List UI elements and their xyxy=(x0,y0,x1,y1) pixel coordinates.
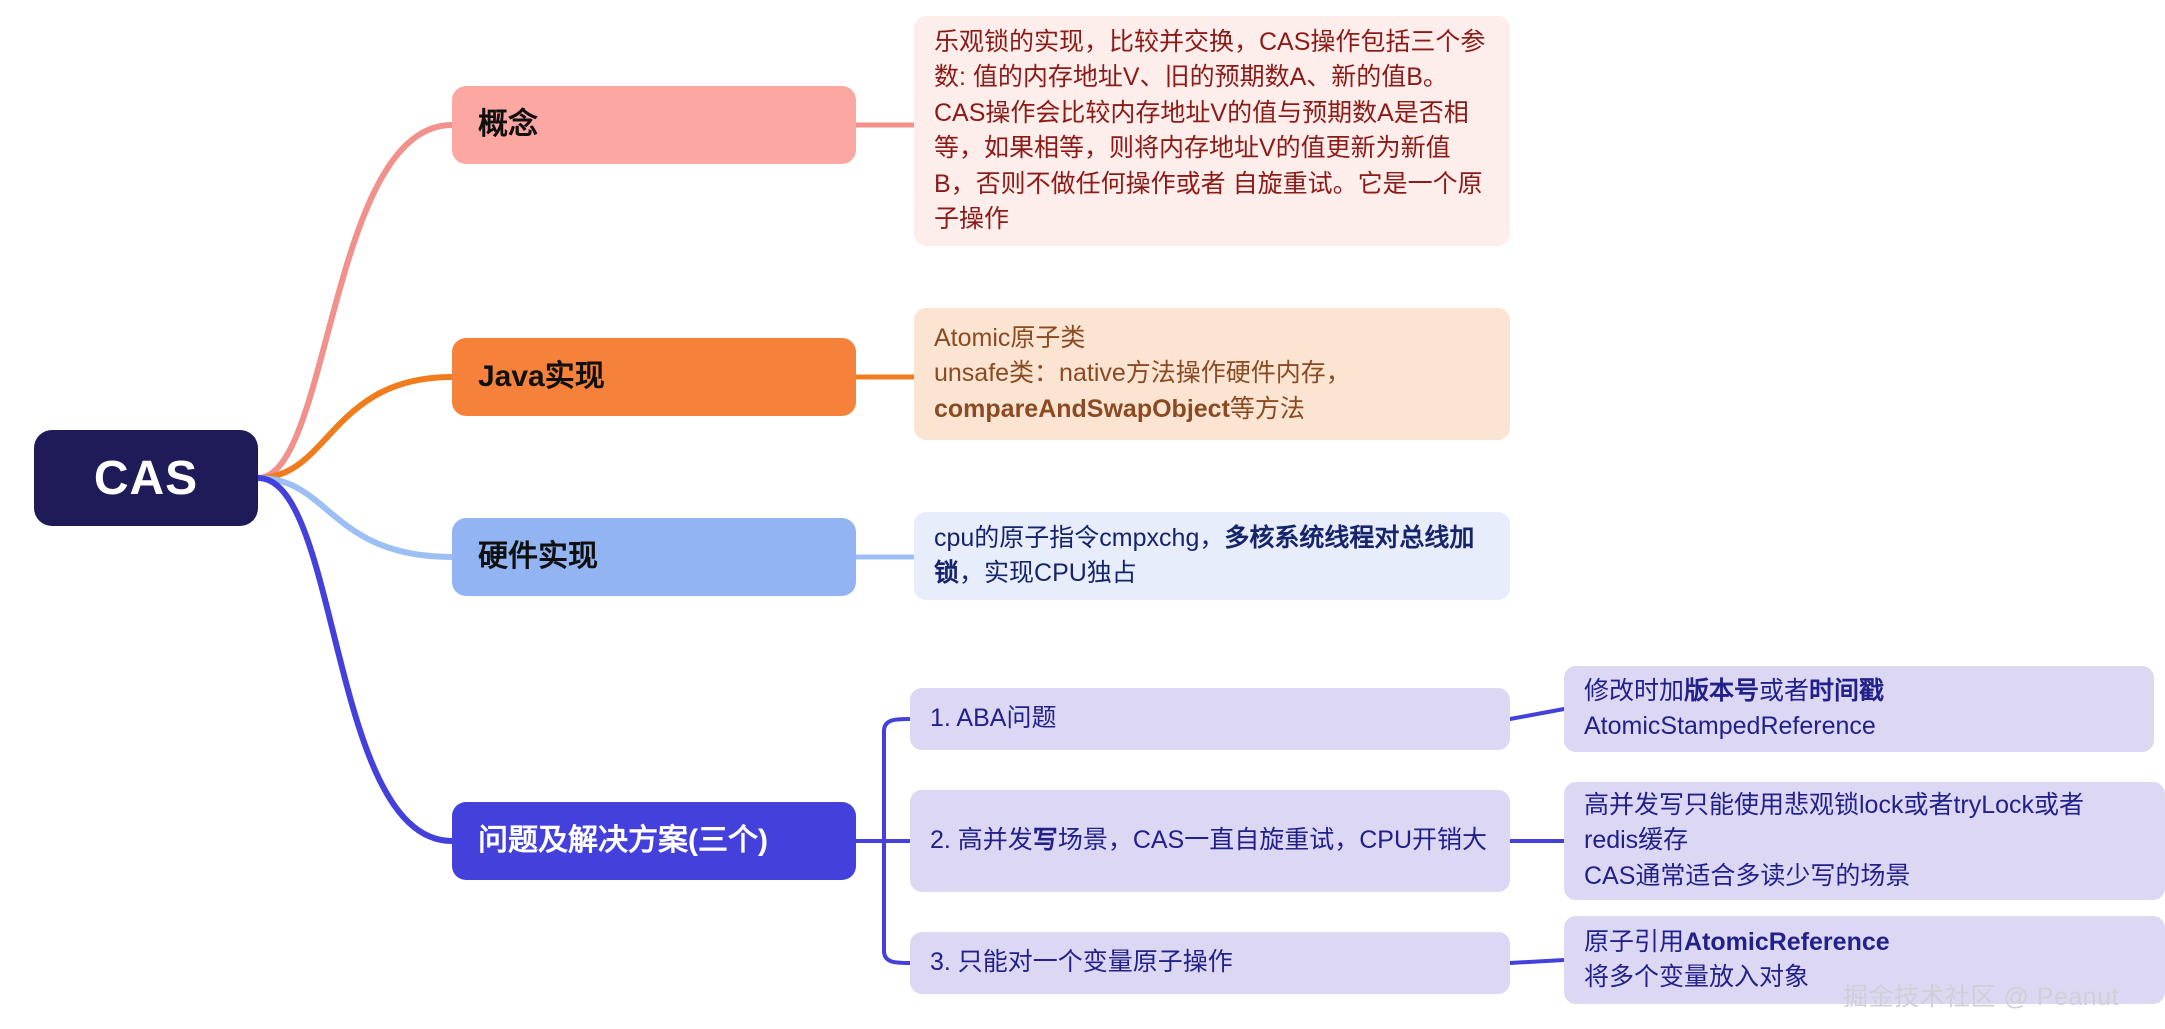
sub-2-post: 场景，CAS一直自旋重试，CPU开销大 xyxy=(1058,826,1487,854)
topic-label-hardware: 硬件实现 xyxy=(478,538,830,576)
answer-3-l2: 将多个变量放入对象 xyxy=(1584,963,1809,991)
sub-2-bold: 写 xyxy=(1033,826,1058,854)
topic-node-problems[interactable]: 问题及解决方案(三个) xyxy=(452,802,856,880)
answer-1-l1-bold2: 时间戳 xyxy=(1809,677,1884,705)
topic-node-java[interactable]: Java实现 xyxy=(452,338,856,416)
answer-3-l1-bold: AtomicReference xyxy=(1684,928,1890,956)
detail-box-hardware[interactable]: cpu的原子指令cmpxchg，多核系统线程对总线加锁，实现CPU独占 xyxy=(914,512,1510,600)
mindmap-canvas: CAS 概念 乐观锁的实现，比较并交换，CAS操作包括三个参数: 值的内存地址V… xyxy=(0,0,2165,1029)
link-root-java xyxy=(258,377,452,478)
answer-2-l3: CAS通常适合多读少写的场景 xyxy=(1584,862,1910,890)
detail-text-java: Atomic原子类 unsafe类：native方法操作硬件内存， compar… xyxy=(934,321,1490,428)
link-root-problems xyxy=(258,478,452,841)
link-root-concept xyxy=(258,125,452,478)
detail-hw-pre: cpu的原子指令cmpxchg， xyxy=(934,524,1224,552)
answer-1-l1-pre: 修改时加 xyxy=(1584,677,1684,705)
answer-box-problem-2[interactable]: 高并发写只能使用悲观锁lock或者tryLock或者redis缓存CAS通常适合… xyxy=(1564,782,2165,900)
link-root-hardware xyxy=(258,478,452,557)
answer-2-l1: 高并发写只能使用悲观锁lock或者tryLock或者 xyxy=(1584,791,2084,819)
topic-node-hardware[interactable]: 硬件实现 xyxy=(452,518,856,596)
detail-text-hardware: cpu的原子指令cmpxchg，多核系统线程对总线加锁，实现CPU独占 xyxy=(934,521,1490,592)
watermark: 掘金技术社区 @ Peanut xyxy=(1843,977,2119,1013)
answer-text-problem-2: 高并发写只能使用悲观锁lock或者tryLock或者redis缓存CAS通常适合… xyxy=(1584,788,2145,895)
sub-label-problem-2: 2. 高并发写场景，CAS一直自旋重试，CPU开销大 xyxy=(930,823,1490,859)
detail-java-line-3-post: 等方法 xyxy=(1230,395,1305,423)
root-node-label: CAS xyxy=(34,451,258,506)
sub-3-pre: 3. 只能对一个变量原子操作 xyxy=(930,948,1233,976)
sub-node-problem-3[interactable]: 3. 只能对一个变量原子操作 xyxy=(910,932,1510,994)
answer-3-l1-pre: 原子引用 xyxy=(1584,928,1684,956)
link-problem-1-answer xyxy=(1510,709,1564,719)
detail-box-java[interactable]: Atomic原子类 unsafe类：native方法操作硬件内存， compar… xyxy=(914,308,1510,440)
answer-1-l1-post: 或者 xyxy=(1759,677,1809,705)
answer-text-problem-1: 修改时加版本号或者时间戳AtomicStampedReference xyxy=(1584,674,2134,745)
sub-label-problem-3: 3. 只能对一个变量原子操作 xyxy=(930,945,1490,981)
detail-java-line-3-bold: compareAndSwapObject xyxy=(934,395,1230,423)
answer-box-problem-1[interactable]: 修改时加版本号或者时间戳AtomicStampedReference xyxy=(1564,666,2154,752)
sub-label-problem-1: 1. ABA问题 xyxy=(930,701,1490,737)
sub-node-problem-2[interactable]: 2. 高并发写场景，CAS一直自旋重试，CPU开销大 xyxy=(910,790,1510,892)
detail-hw-post: ，实现CPU独占 xyxy=(959,559,1137,587)
topic-label-java: Java实现 xyxy=(478,358,830,396)
answer-1-l1-bold: 版本号 xyxy=(1684,677,1759,705)
detail-java-line-2: unsafe类：native方法操作硬件内存， xyxy=(934,359,1351,387)
detail-java-line-1: Atomic原子类 xyxy=(934,324,1085,352)
topic-label-problems: 问题及解决方案(三个) xyxy=(478,822,830,860)
link-problem-3 xyxy=(884,951,910,963)
answer-1-l2: AtomicStampedReference xyxy=(1584,712,1876,740)
topic-node-concept[interactable]: 概念 xyxy=(452,86,856,164)
detail-text-concept: 乐观锁的实现，比较并交换，CAS操作包括三个参数: 值的内存地址V、旧的预期数A… xyxy=(934,25,1490,238)
sub-node-problem-1[interactable]: 1. ABA问题 xyxy=(910,688,1510,750)
sub-1-pre: 1. ABA问题 xyxy=(930,704,1056,732)
link-problem-1 xyxy=(884,719,910,731)
topic-label-concept: 概念 xyxy=(478,106,830,144)
sub-2-pre: 2. 高并发 xyxy=(930,826,1033,854)
detail-box-concept[interactable]: 乐观锁的实现，比较并交换，CAS操作包括三个参数: 值的内存地址V、旧的预期数A… xyxy=(914,16,1510,246)
root-node[interactable]: CAS xyxy=(34,430,258,526)
link-problem-3-answer xyxy=(1510,960,1564,963)
answer-2-l2: redis缓存 xyxy=(1584,826,1688,854)
